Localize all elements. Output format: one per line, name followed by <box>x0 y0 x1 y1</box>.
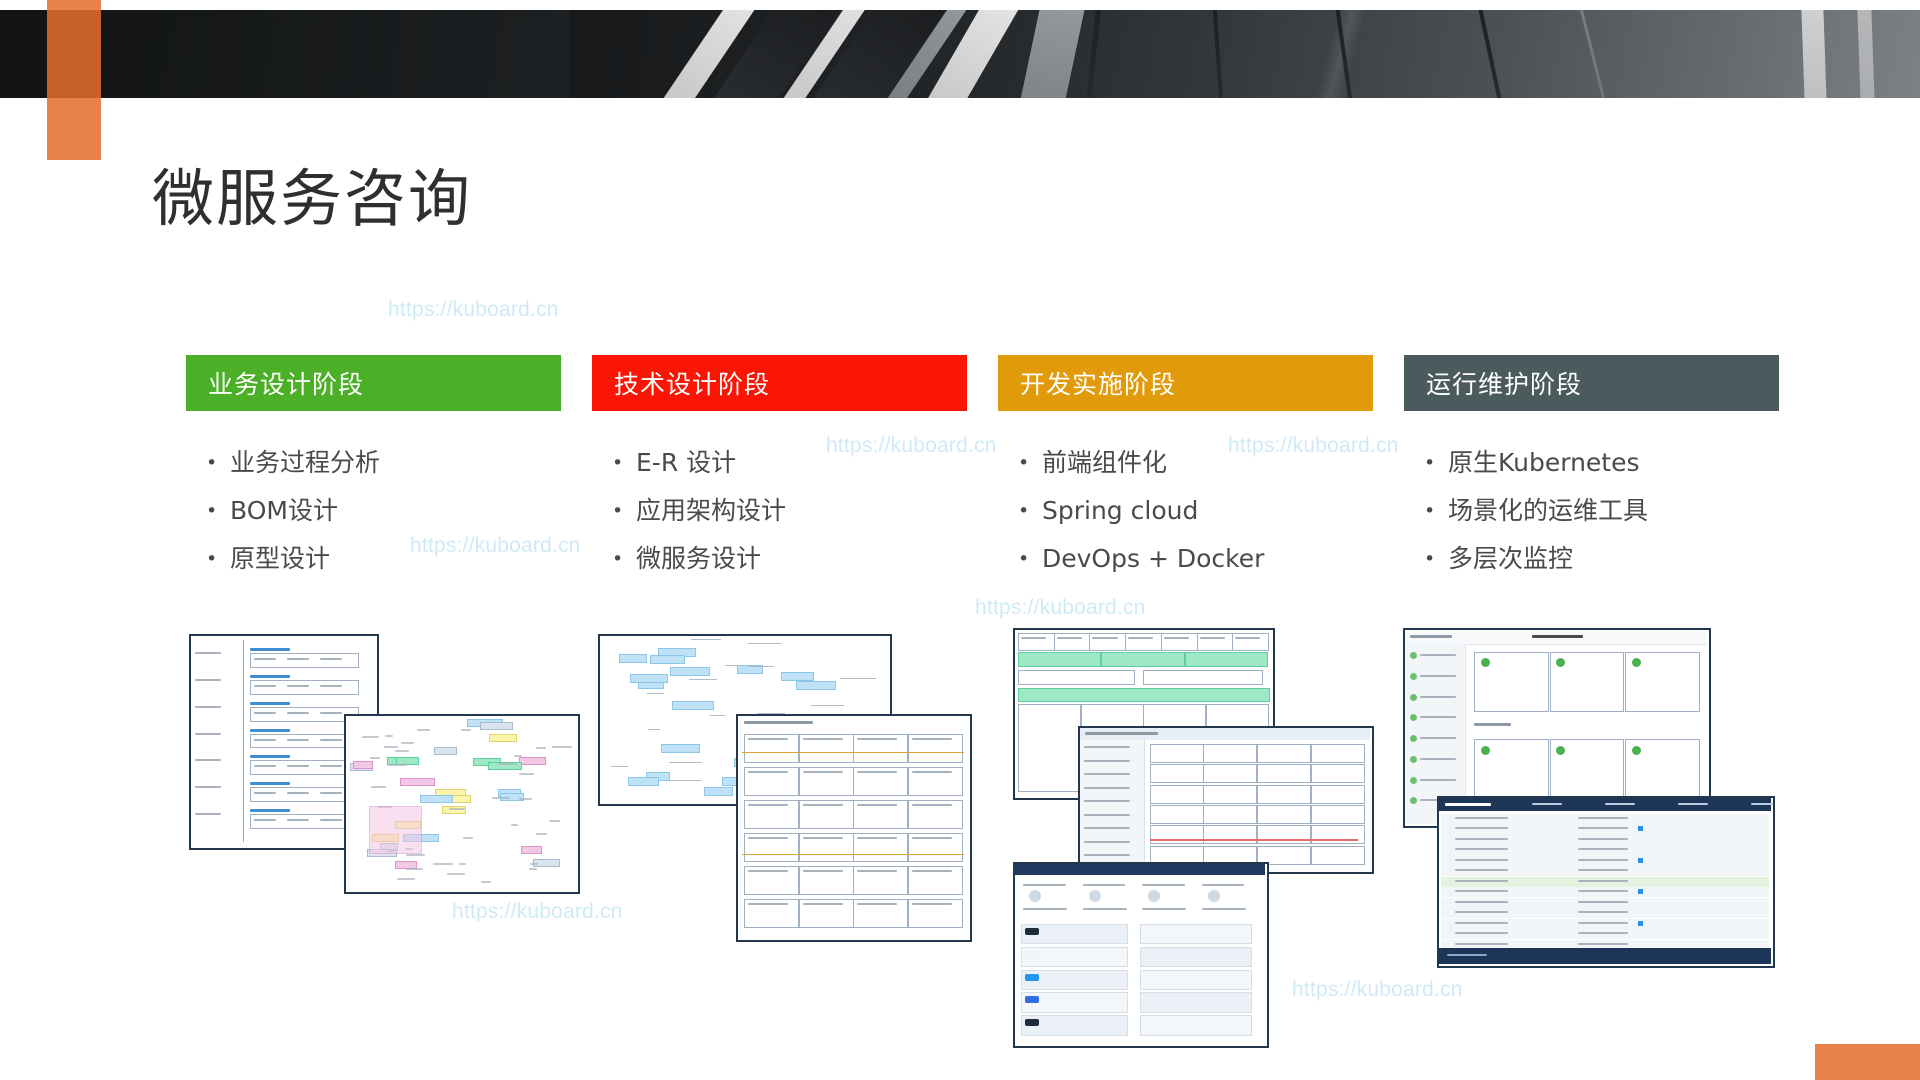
thumbnail-bom-design-diagram[interactable] <box>344 714 580 894</box>
list-item: •应用架构设计 <box>592 487 967 535</box>
list-item: •E-R 设计 <box>592 439 967 487</box>
list-item: •业务过程分析 <box>186 439 561 487</box>
bullet-dot-icon: • <box>998 439 1042 487</box>
bullet-dot-icon: • <box>1404 439 1448 487</box>
phase-header-development[interactable]: 开发实施阶段 <box>998 355 1373 411</box>
watermark-url: https://kuboard.cn <box>388 298 559 322</box>
list-item: •BOM设计 <box>186 487 561 535</box>
list-item-label: DevOps + Docker <box>1042 535 1264 583</box>
phase-header-operations[interactable]: 运行维护阶段 <box>1404 355 1779 411</box>
bullet-dot-icon: • <box>1404 535 1448 583</box>
photo-stripe <box>1079 10 1105 98</box>
thumbnail-content <box>1439 798 1773 966</box>
thumbnail-microservice-architecture[interactable] <box>736 714 972 942</box>
architecture-photo <box>570 10 1920 98</box>
bullet-dot-icon: • <box>186 535 230 583</box>
list-item: •原生Kubernetes <box>1404 439 1779 487</box>
watermark-url: https://kuboard.cn <box>452 900 623 924</box>
list-item: •多层次监控 <box>1404 535 1779 583</box>
bullet-dot-icon: • <box>592 487 636 535</box>
thumbnail-devops-console[interactable] <box>1078 726 1374 874</box>
bullet-dot-icon: • <box>592 535 636 583</box>
phase-column-technical-design: 技术设计阶段 •E-R 设计 •应用架构设计 •微服务设计 <box>592 355 967 583</box>
list-item-label: 微服务设计 <box>636 535 761 583</box>
photo-stripe <box>1856 10 1877 98</box>
thumbnail-content <box>1015 864 1267 1046</box>
list-item: •DevOps + Docker <box>998 535 1373 583</box>
list-item: •场景化的运维工具 <box>1404 487 1779 535</box>
list-item-label: 场景化的运维工具 <box>1448 487 1648 535</box>
thumbnail-content <box>738 716 970 940</box>
photo-stripe <box>1470 10 1515 98</box>
list-item-label: 原型设计 <box>230 535 330 583</box>
photo-stripe <box>1006 10 1091 98</box>
photo-stripe <box>1570 10 1621 98</box>
phase-column-business-design: 业务设计阶段 •业务过程分析 •BOM设计 •原型设计 <box>186 355 561 583</box>
watermark-url: https://kuboard.cn <box>975 596 1146 620</box>
slide-root: 微服务咨询 https://kuboard.cnhttps://kuboard.… <box>0 0 1920 1080</box>
watermark-url: https://kuboard.cn <box>1292 978 1463 1002</box>
list-item: •前端组件化 <box>998 439 1373 487</box>
list-item: •微服务设计 <box>592 535 967 583</box>
photo-stripe <box>1210 10 1228 98</box>
left-accent-bar <box>47 0 101 160</box>
phase-column-development: 开发实施阶段 •前端组件化 •Spring cloud •DevOps + Do… <box>998 355 1373 583</box>
phase-bullets-technical-design: •E-R 设计 •应用架构设计 •微服务设计 <box>592 439 967 583</box>
list-item: •原型设计 <box>186 535 561 583</box>
bullet-dot-icon: • <box>186 487 230 535</box>
phase-header-business-design[interactable]: 业务设计阶段 <box>186 355 561 411</box>
bullet-dot-icon: • <box>1404 487 1448 535</box>
thumbnail-cicd-pipeline[interactable] <box>1013 862 1269 1048</box>
left-accent-bar-dark-segment <box>47 10 101 98</box>
phase-bullets-development: •前端组件化 •Spring cloud •DevOps + Docker <box>998 439 1373 583</box>
bullet-dot-icon: • <box>998 535 1042 583</box>
list-item-label: E-R 设计 <box>636 439 736 487</box>
list-item-label: 业务过程分析 <box>230 439 380 487</box>
phase-header-technical-design[interactable]: 技术设计阶段 <box>592 355 967 411</box>
header-banner-image <box>0 10 1920 98</box>
photo-stripe <box>1800 10 1829 98</box>
thumbnail-content <box>346 716 578 892</box>
phase-column-operations: 运行维护阶段 •原生Kubernetes •场景化的运维工具 •多层次监控 <box>1404 355 1779 583</box>
list-item-label: 前端组件化 <box>1042 439 1167 487</box>
list-item-label: BOM设计 <box>230 487 338 535</box>
bullet-dot-icon: • <box>592 439 636 487</box>
list-item: •Spring cloud <box>998 487 1373 535</box>
photo-stripe <box>1330 10 1362 98</box>
thumbnail-content <box>1080 728 1372 872</box>
phase-bullets-business-design: •业务过程分析 •BOM设计 •原型设计 <box>186 439 561 583</box>
thumbnail-monitoring-table[interactable] <box>1437 796 1775 968</box>
bullet-dot-icon: • <box>998 487 1042 535</box>
list-item-label: Spring cloud <box>1042 487 1198 535</box>
phase-bullets-operations: •原生Kubernetes •场景化的运维工具 •多层次监控 <box>1404 439 1779 583</box>
list-item-label: 多层次监控 <box>1448 535 1573 583</box>
list-item-label: 原生Kubernetes <box>1448 439 1640 487</box>
bullet-dot-icon: • <box>186 439 230 487</box>
page-title: 微服务咨询 <box>152 168 472 230</box>
list-item-label: 应用架构设计 <box>636 487 786 535</box>
bottom-right-accent-bar <box>1815 1044 1920 1080</box>
